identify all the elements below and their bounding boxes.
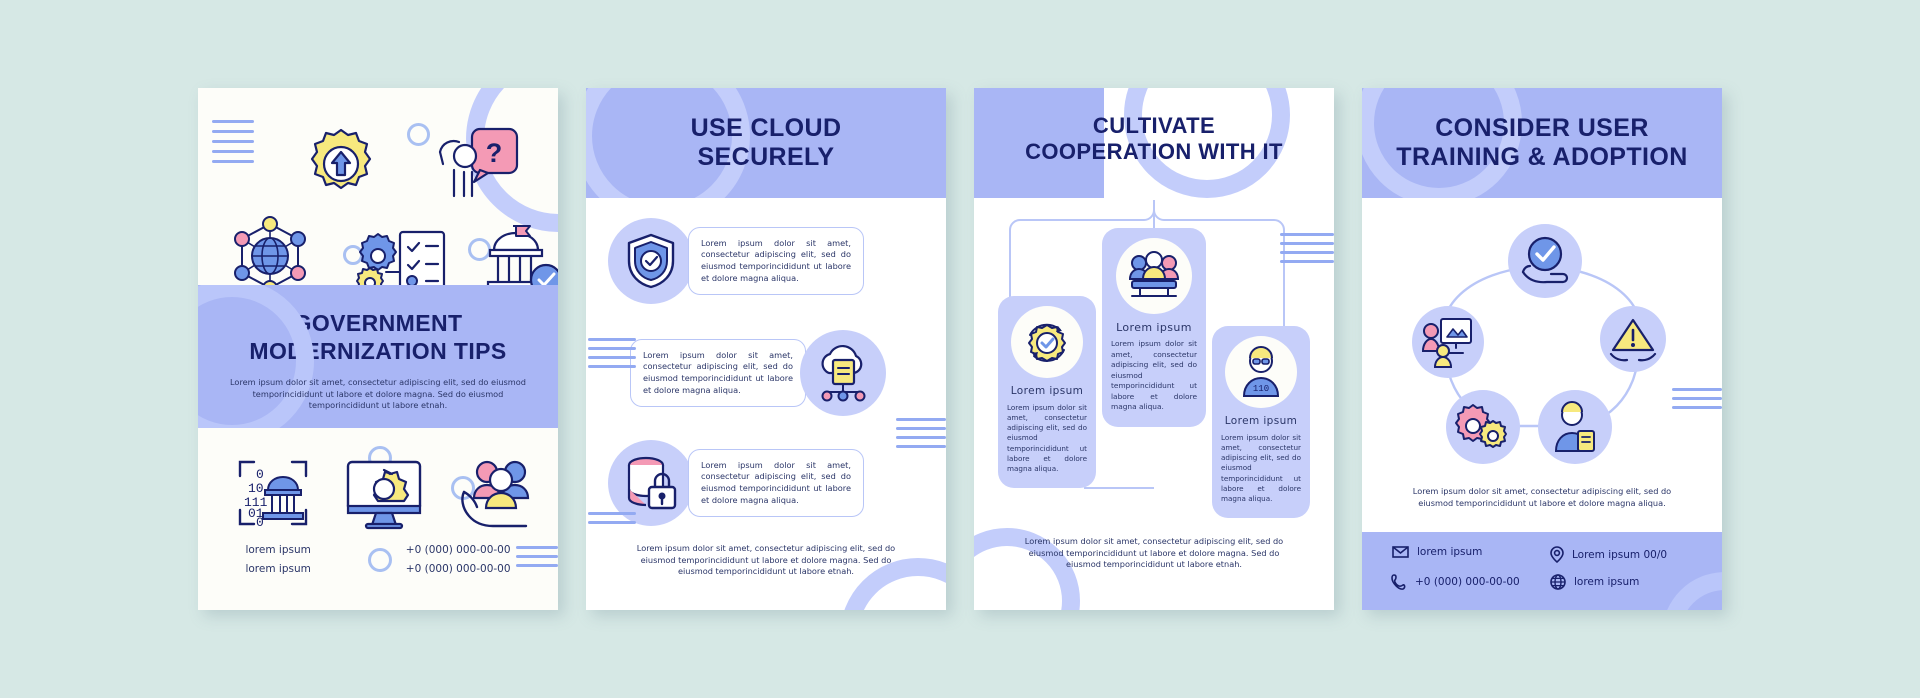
cloud-block-3: Lorem ipsum dolor sit amet, consectetur …: [608, 440, 864, 526]
team-group-icon: [1126, 251, 1182, 301]
cover-contact-right: +0 (000) 000-00-00 +0 (000) 000-00-00: [406, 540, 511, 578]
check-hand-circle: [1508, 224, 1582, 298]
warning-hands-circle: [1600, 306, 1666, 372]
cloud-title-line1: USE CLOUD: [586, 114, 946, 142]
svg-text:0: 0: [256, 467, 264, 482]
panel-cloud: USE CLOUD SECURELY Lorem ipsum dolor sit…: [586, 88, 946, 610]
cloud-header: USE CLOUD SECURELY: [586, 88, 946, 198]
contact-right-line1: +0 (000) 000-00-00: [406, 544, 511, 556]
panel-cooperation: CULTIVATE COOPERATION WITH IT: [974, 88, 1334, 610]
student-book-icon: [1550, 401, 1600, 453]
cooperation-title-line2: COOPERATION WITH IT: [974, 140, 1334, 165]
cooperation-title-line1: CULTIVATE: [974, 114, 1334, 139]
gear-up-arrow-icon: [303, 126, 379, 202]
hand-people-icon: [456, 456, 542, 532]
footer-contact-web[interactable]: lorem ipsum: [1550, 574, 1639, 590]
decor-ring-small: [368, 548, 392, 572]
cloud-document-circle: [800, 330, 886, 416]
government-building-check-icon: [486, 228, 558, 285]
cover-contact-left: lorem ipsum lorem ipsum: [245, 540, 310, 578]
gears-checklist-icon: [356, 228, 446, 285]
cloud-block-1-textbox: Lorem ipsum dolor sit amet, consectetur …: [688, 227, 864, 296]
decor-lines: [1280, 233, 1334, 263]
cloud-block-3-textbox: Lorem ipsum dolor sit amet, consectetur …: [688, 449, 864, 518]
decor-ring-large: [1662, 572, 1722, 610]
cooperation-card-2-heading: Lorem ipsum: [1111, 322, 1197, 334]
binary-government-icon: 0 10 111 01 0: [234, 456, 312, 530]
cloud-block-1: Lorem ipsum dolor sit amet, consectetur …: [608, 218, 864, 304]
presentation-people-circle: [1412, 306, 1484, 378]
contact-left-line1: lorem ipsum: [245, 544, 310, 556]
cooperation-card-3-text: Lorem ipsum dolor sit amet, consectetur …: [1221, 433, 1301, 505]
phone-icon: [1392, 574, 1407, 590]
cloud-block-3-text: Lorem ipsum dolor sit amet, consectetur …: [701, 460, 851, 507]
footer-contact-mail-label: lorem ipsum: [1417, 546, 1482, 558]
user-id-110-icon: 110: [1236, 346, 1286, 398]
cooperation-card-1-text: Lorem ipsum dolor sit amet, consectetur …: [1007, 403, 1087, 475]
training-body-text: Lorem ipsum dolor sit amet, consectetur …: [1398, 486, 1686, 509]
cloud-block-1-text: Lorem ipsum dolor sit amet, consectetur …: [701, 238, 851, 285]
cloud-block-2: Lorem ipsum dolor sit amet, consectetur …: [630, 330, 886, 416]
cloud-footer-text: Lorem ipsum dolor sit amet, consectetur …: [622, 543, 910, 578]
svg-text:?: ?: [486, 138, 503, 168]
person-question-icon: ?: [434, 126, 520, 204]
cooperation-card-1: Lorem ipsum Lorem ipsum dolor sit amet, …: [998, 296, 1096, 488]
gears-scale-circle: [1446, 390, 1520, 464]
cooperation-footer-text: Lorem ipsum dolor sit amet, consectetur …: [1010, 536, 1298, 571]
location-pin-icon: [1550, 546, 1564, 563]
monitor-gear-icon: [344, 458, 424, 530]
cooperation-header: CULTIVATE COOPERATION WITH IT: [974, 88, 1334, 198]
globe-icon: [1550, 574, 1566, 590]
mail-icon: [1392, 546, 1409, 558]
check-hand-icon: [1519, 236, 1571, 286]
footer-contact-phone[interactable]: +0 (000) 000-00-00: [1392, 574, 1520, 590]
cover-subtitle: Lorem ipsum dolor sit amet, consectetur …: [226, 377, 530, 412]
team-group-circle: [1116, 238, 1192, 314]
cloud-title-line2: SECURELY: [586, 143, 946, 171]
training-title-line2: TRAINING & ADOPTION: [1362, 143, 1722, 171]
panel-training: CONSIDER USER TRAINING & ADOPTION: [1362, 88, 1722, 610]
decor-lines: [212, 120, 254, 163]
contact-right-line2: +0 (000) 000-00-00: [406, 563, 511, 575]
cloud-document-icon: [815, 346, 871, 400]
svg-text:10: 10: [248, 481, 264, 496]
cover-title-band: GOVERNMENT MODERNIZATION TIPS Lorem ipsu…: [198, 285, 558, 428]
svg-text:110: 110: [1253, 384, 1269, 394]
warning-hands-icon: [1609, 316, 1657, 362]
cooperation-card-3-heading: Lorem ipsum: [1221, 416, 1301, 428]
cooperation-card-3: 110 Lorem ipsum Lorem ipsum dolor sit am…: [1212, 326, 1310, 518]
decor-lines: [896, 418, 946, 448]
contact-left-line2: lorem ipsum: [245, 563, 310, 575]
panel-cover: ?: [198, 88, 558, 610]
footer-contact-location[interactable]: Lorem ipsum 00/0: [1550, 546, 1667, 563]
shield-check-circle: [608, 218, 694, 304]
training-header: CONSIDER USER TRAINING & ADOPTION: [1362, 88, 1722, 198]
footer-contact-phone-label: +0 (000) 000-00-00: [1415, 576, 1520, 588]
cooperation-card-2-text: Lorem ipsum dolor sit amet, consectetur …: [1111, 339, 1197, 413]
footer-contact-web-label: lorem ipsum: [1574, 576, 1639, 588]
cooperation-card-1-heading: Lorem ipsum: [1007, 386, 1087, 398]
cover-footer: 0 10 111 01 0: [198, 428, 558, 610]
training-footer-bar: lorem ipsum Lorem ipsum 00/0 +0 (000) 00…: [1362, 532, 1722, 610]
cooperation-card-2: Lorem ipsum Lorem ipsum dolor sit amet, …: [1102, 228, 1206, 427]
gears-scale-icon: [1457, 403, 1509, 451]
gear-check-cycle-icon: [1022, 317, 1072, 367]
cloud-block-2-text: Lorem ipsum dolor sit amet, consectetur …: [643, 350, 793, 397]
decor-ring-small: [407, 123, 430, 146]
footer-contact-mail[interactable]: lorem ipsum: [1392, 546, 1482, 558]
user-id-circle: 110: [1225, 336, 1297, 408]
database-lock-icon: [622, 455, 680, 511]
presentation-people-icon: [1421, 317, 1475, 367]
student-book-circle: [1538, 390, 1612, 464]
decor-lines: [1672, 388, 1722, 409]
decor-lines: [588, 338, 636, 368]
gear-check-cycle-circle: [1011, 306, 1083, 378]
brochure-board: ?: [0, 0, 1920, 698]
globe-network-icon: [230, 216, 310, 285]
cover-hero-illustration: ?: [198, 88, 558, 285]
training-title-line1: CONSIDER USER: [1362, 114, 1722, 142]
decor-lines: [588, 512, 636, 524]
shield-check-icon: [625, 233, 677, 289]
cloud-block-2-textbox: Lorem ipsum dolor sit amet, consectetur …: [630, 339, 806, 408]
footer-contact-location-label: Lorem ipsum 00/0: [1572, 549, 1667, 561]
